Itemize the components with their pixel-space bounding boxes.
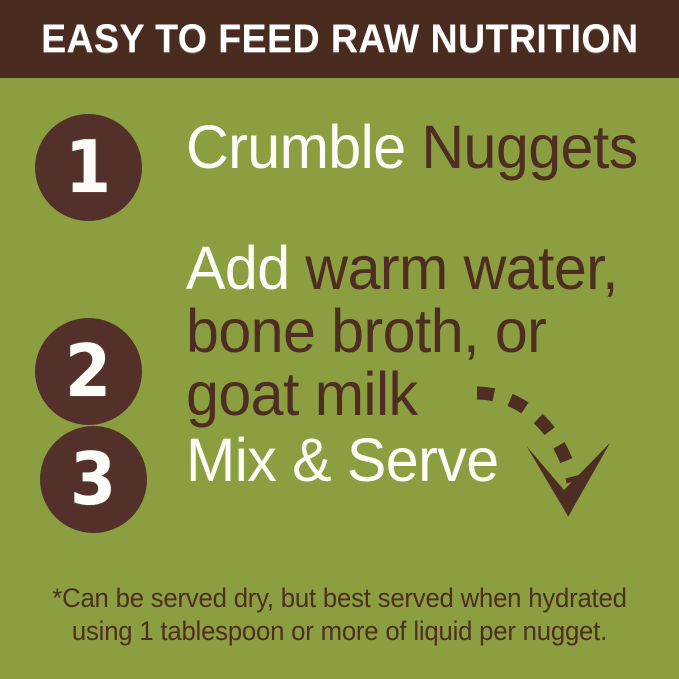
step-text-1: Crumble Nuggets (186, 116, 638, 179)
step-2-line-2-brown: bone broth, or (186, 297, 546, 365)
step-2-line-1: Add warm water, (186, 237, 618, 300)
step-2-line-2: bone broth, or (186, 300, 618, 363)
dashed-curved-arrow (455, 360, 630, 545)
step-1-line-1-brown: Nuggets (421, 113, 637, 181)
footnote: *Can be served dry, but best served when… (0, 582, 679, 648)
step-number-badge-3: 3 (40, 426, 147, 533)
step-number-2: 2 (65, 335, 111, 407)
infographic-root: EASY TO FEED RAW NUTRITION 1 Crumble Nug… (0, 0, 679, 679)
footnote-line-2: using 1 tablespoon or more of liquid per… (10, 615, 669, 648)
step-text-3: Mix & Serve (186, 429, 499, 492)
step-1-line-1-white: Crumble (186, 113, 406, 181)
footnote-line-1: *Can be served dry, but best served when… (10, 582, 669, 615)
step-number-1: 1 (65, 131, 111, 203)
step-number-3: 3 (70, 443, 116, 515)
step-3-line-1-white: Mix & Serve (186, 426, 499, 494)
step-2-line-3-brown: goat milk (186, 360, 418, 428)
step-number-badge-1: 1 (35, 114, 142, 221)
page-title: EASY TO FEED RAW NUTRITION (41, 19, 639, 59)
step-2-line-1-white: Add (186, 234, 290, 302)
header-bar: EASY TO FEED RAW NUTRITION (0, 0, 679, 78)
step-number-badge-2: 2 (35, 318, 142, 425)
step-2-line-1-brown: warm water, (305, 234, 618, 302)
